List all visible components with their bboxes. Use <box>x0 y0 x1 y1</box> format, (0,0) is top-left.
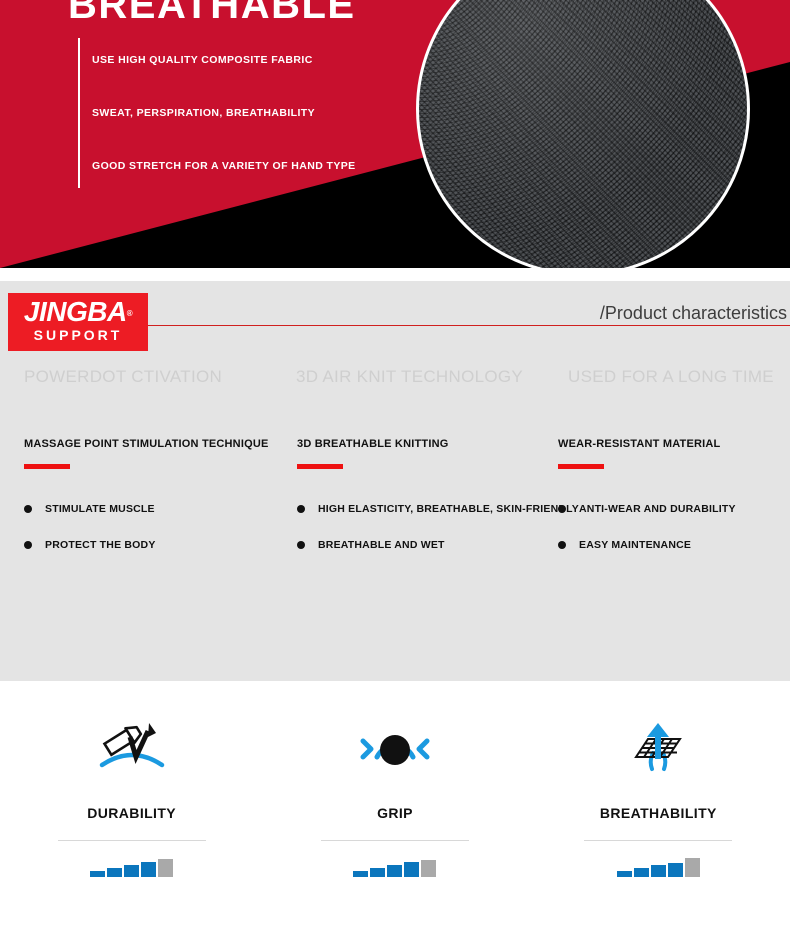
list-item: SWEAT, PERSPIRATION, BREATHABILITY <box>92 97 356 150</box>
rating-bar-filled <box>353 871 368 877</box>
ghost-heading: POWERDOT CTIVATION <box>24 367 222 387</box>
hammer-impact-icon <box>92 705 172 791</box>
characteristics-columns: MASSAGE POINT STIMULATION TECHNIQUE STIM… <box>0 438 790 618</box>
section-divider <box>0 268 790 281</box>
section-title: /Product characteristics <box>600 303 787 324</box>
bullet-dot-icon <box>24 505 32 513</box>
feature-durability: DURABILITY <box>0 681 263 925</box>
rating-bar-filled <box>141 862 156 877</box>
rating-bar-filled <box>90 871 105 877</box>
rating-bar-filled <box>617 871 632 877</box>
characteristics-header: JINGBA® SUPPORT /Product characteristics <box>0 281 790 359</box>
rating-bar-filled <box>651 865 666 877</box>
hero-feature-list: USE HIGH QUALITY COMPOSITE FABRIC SWEAT,… <box>92 44 356 203</box>
bullet-label: BREATHABLE AND WET <box>318 539 445 551</box>
bullet-dot-icon <box>297 541 305 549</box>
bullet-dot-icon <box>558 541 566 549</box>
ghost-heading: 3D AIR KNIT TECHNOLOGY <box>296 367 523 387</box>
column-accent-bar <box>297 464 343 469</box>
logo-wordmark: JINGBA® <box>24 293 132 328</box>
characteristic-column-massage: MASSAGE POINT STIMULATION TECHNIQUE STIM… <box>24 438 294 563</box>
rating-bar-filled <box>107 868 122 877</box>
ghost-heading: USED FOR A LONG TIME <box>568 367 774 387</box>
rating-bar-filled <box>634 868 649 877</box>
header-accent-line <box>148 325 790 326</box>
product-characteristics-section: JINGBA® SUPPORT /Product characteristics… <box>0 281 790 681</box>
registered-trademark-icon: ® <box>127 309 132 318</box>
ghost-headings-row: POWERDOT CTIVATION 3D AIR KNIT TECHNOLOG… <box>0 359 790 405</box>
rating-bar-filled <box>370 868 385 877</box>
column-accent-bar <box>558 464 604 469</box>
feature-separator <box>58 840 206 841</box>
column-heading: 3D BREATHABLE KNITTING <box>297 438 567 450</box>
list-item: PROTECT THE BODY <box>24 527 294 563</box>
logo-main-text: JINGBA <box>24 296 127 327</box>
bullet-label: PROTECT THE BODY <box>45 539 156 551</box>
feature-separator <box>584 840 732 841</box>
rating-bar-filled <box>387 865 402 877</box>
list-item: EASY MAINTENANCE <box>558 527 790 563</box>
list-item: ANTI-WEAR AND DURABILITY <box>558 491 790 527</box>
rating-bar-filled <box>124 865 139 877</box>
bullet-label: ANTI-WEAR AND DURABILITY <box>579 503 736 515</box>
list-item: GOOD STRETCH FOR A VARIETY OF HAND TYPE <box>92 150 356 203</box>
feature-label: BREATHABILITY <box>600 805 717 821</box>
hero-banner: BREATHABLE USE HIGH QUALITY COMPOSITE FA… <box>0 0 790 268</box>
rating-bar-empty <box>158 859 173 877</box>
bullet-dot-icon <box>24 541 32 549</box>
column-heading: WEAR-RESISTANT MATERIAL <box>558 438 790 450</box>
column-bullet-list: HIGH ELASTICITY, BREATHABLE, SKIN-FRIEND… <box>297 491 567 563</box>
rating-durability <box>90 855 173 877</box>
rating-bar-filled <box>668 863 683 877</box>
bullet-dot-icon <box>297 505 305 513</box>
bullet-dot-icon <box>558 505 566 513</box>
logo-subtitle: SUPPORT <box>8 328 148 343</box>
feature-breathability: BREATHABILITY <box>527 681 790 925</box>
column-heading: MASSAGE POINT STIMULATION TECHNIQUE <box>24 438 294 450</box>
bullet-label: STIMULATE MUSCLE <box>45 503 155 515</box>
feature-separator <box>321 840 469 841</box>
rating-bar-empty <box>421 860 436 877</box>
bullet-label: HIGH ELASTICITY, BREATHABLE, SKIN-FRIEND… <box>318 503 579 515</box>
column-bullet-list: STIMULATE MUSCLE PROTECT THE BODY <box>24 491 294 563</box>
hero-vertical-rule <box>78 38 80 188</box>
rating-breathability <box>617 855 700 877</box>
list-item: STIMULATE MUSCLE <box>24 491 294 527</box>
characteristic-column-knitting: 3D BREATHABLE KNITTING HIGH ELASTICITY, … <box>297 438 567 563</box>
jingba-logo: JINGBA® SUPPORT <box>8 293 148 351</box>
feature-grip: GRIP <box>263 681 526 925</box>
rating-bar-empty <box>685 858 700 877</box>
rating-grip <box>353 855 436 877</box>
grip-circle-icon <box>355 705 435 791</box>
list-item: HIGH ELASTICITY, BREATHABLE, SKIN-FRIEND… <box>297 491 567 527</box>
list-item: BREATHABLE AND WET <box>297 527 567 563</box>
column-bullet-list: ANTI-WEAR AND DURABILITY EASY MAINTENANC… <box>558 491 790 563</box>
feature-label: GRIP <box>377 805 413 821</box>
bullet-label: EASY MAINTENANCE <box>579 539 691 551</box>
feature-label: DURABILITY <box>87 805 176 821</box>
list-item: USE HIGH QUALITY COMPOSITE FABRIC <box>92 44 356 97</box>
column-accent-bar <box>24 464 70 469</box>
rating-bar-filled <box>404 862 419 877</box>
hero-title: BREATHABLE <box>68 0 356 28</box>
mesh-airflow-icon <box>618 705 698 791</box>
feature-ratings-section: DURABILITY GRIP <box>0 681 790 925</box>
characteristic-column-wear-resistant: WEAR-RESISTANT MATERIAL ANTI-WEAR AND DU… <box>558 438 790 563</box>
fabric-closeup-circle <box>416 0 750 268</box>
